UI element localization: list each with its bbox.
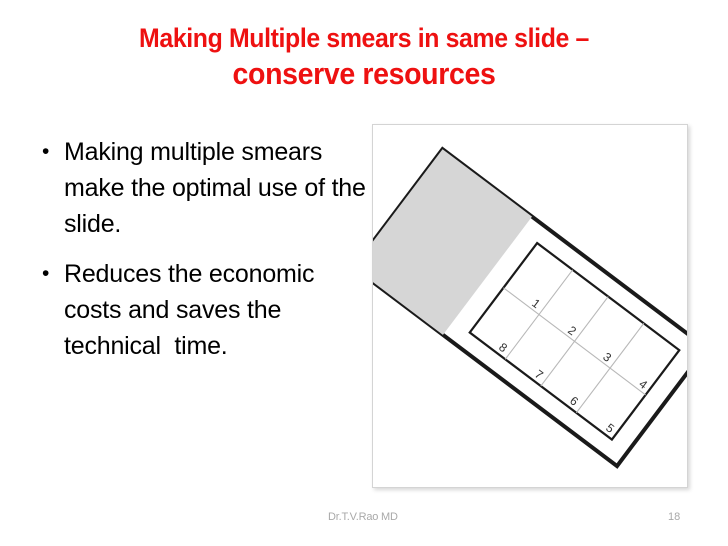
list-item: • Reduces the economic costs and saves t…	[38, 256, 368, 364]
bullet-list: • Making multiple smears make the optima…	[38, 134, 368, 378]
title-line-1: Making Multiple smears in same slide –	[51, 22, 677, 55]
footer-author: Dr.T.V.Rao MD	[328, 510, 398, 524]
footer-page-number: 18	[668, 510, 680, 524]
title-line-2: conserve resources	[51, 55, 677, 93]
bullet-text: Reduces the economic costs and saves the…	[64, 256, 368, 364]
microscope-slide-illustration: 1 2 3 4 5 6 7 8	[373, 125, 687, 487]
page-title: Making Multiple smears in same slide – c…	[24, 22, 704, 93]
bullet-text: Making multiple smears make the optimal …	[64, 134, 368, 242]
presentation-slide: Making Multiple smears in same slide – c…	[0, 0, 728, 546]
bullet-marker-icon: •	[38, 134, 64, 170]
slide-diagram-image: 1 2 3 4 5 6 7 8	[372, 124, 688, 488]
bullet-marker-icon: •	[38, 256, 64, 292]
list-item: • Making multiple smears make the optima…	[38, 134, 368, 242]
